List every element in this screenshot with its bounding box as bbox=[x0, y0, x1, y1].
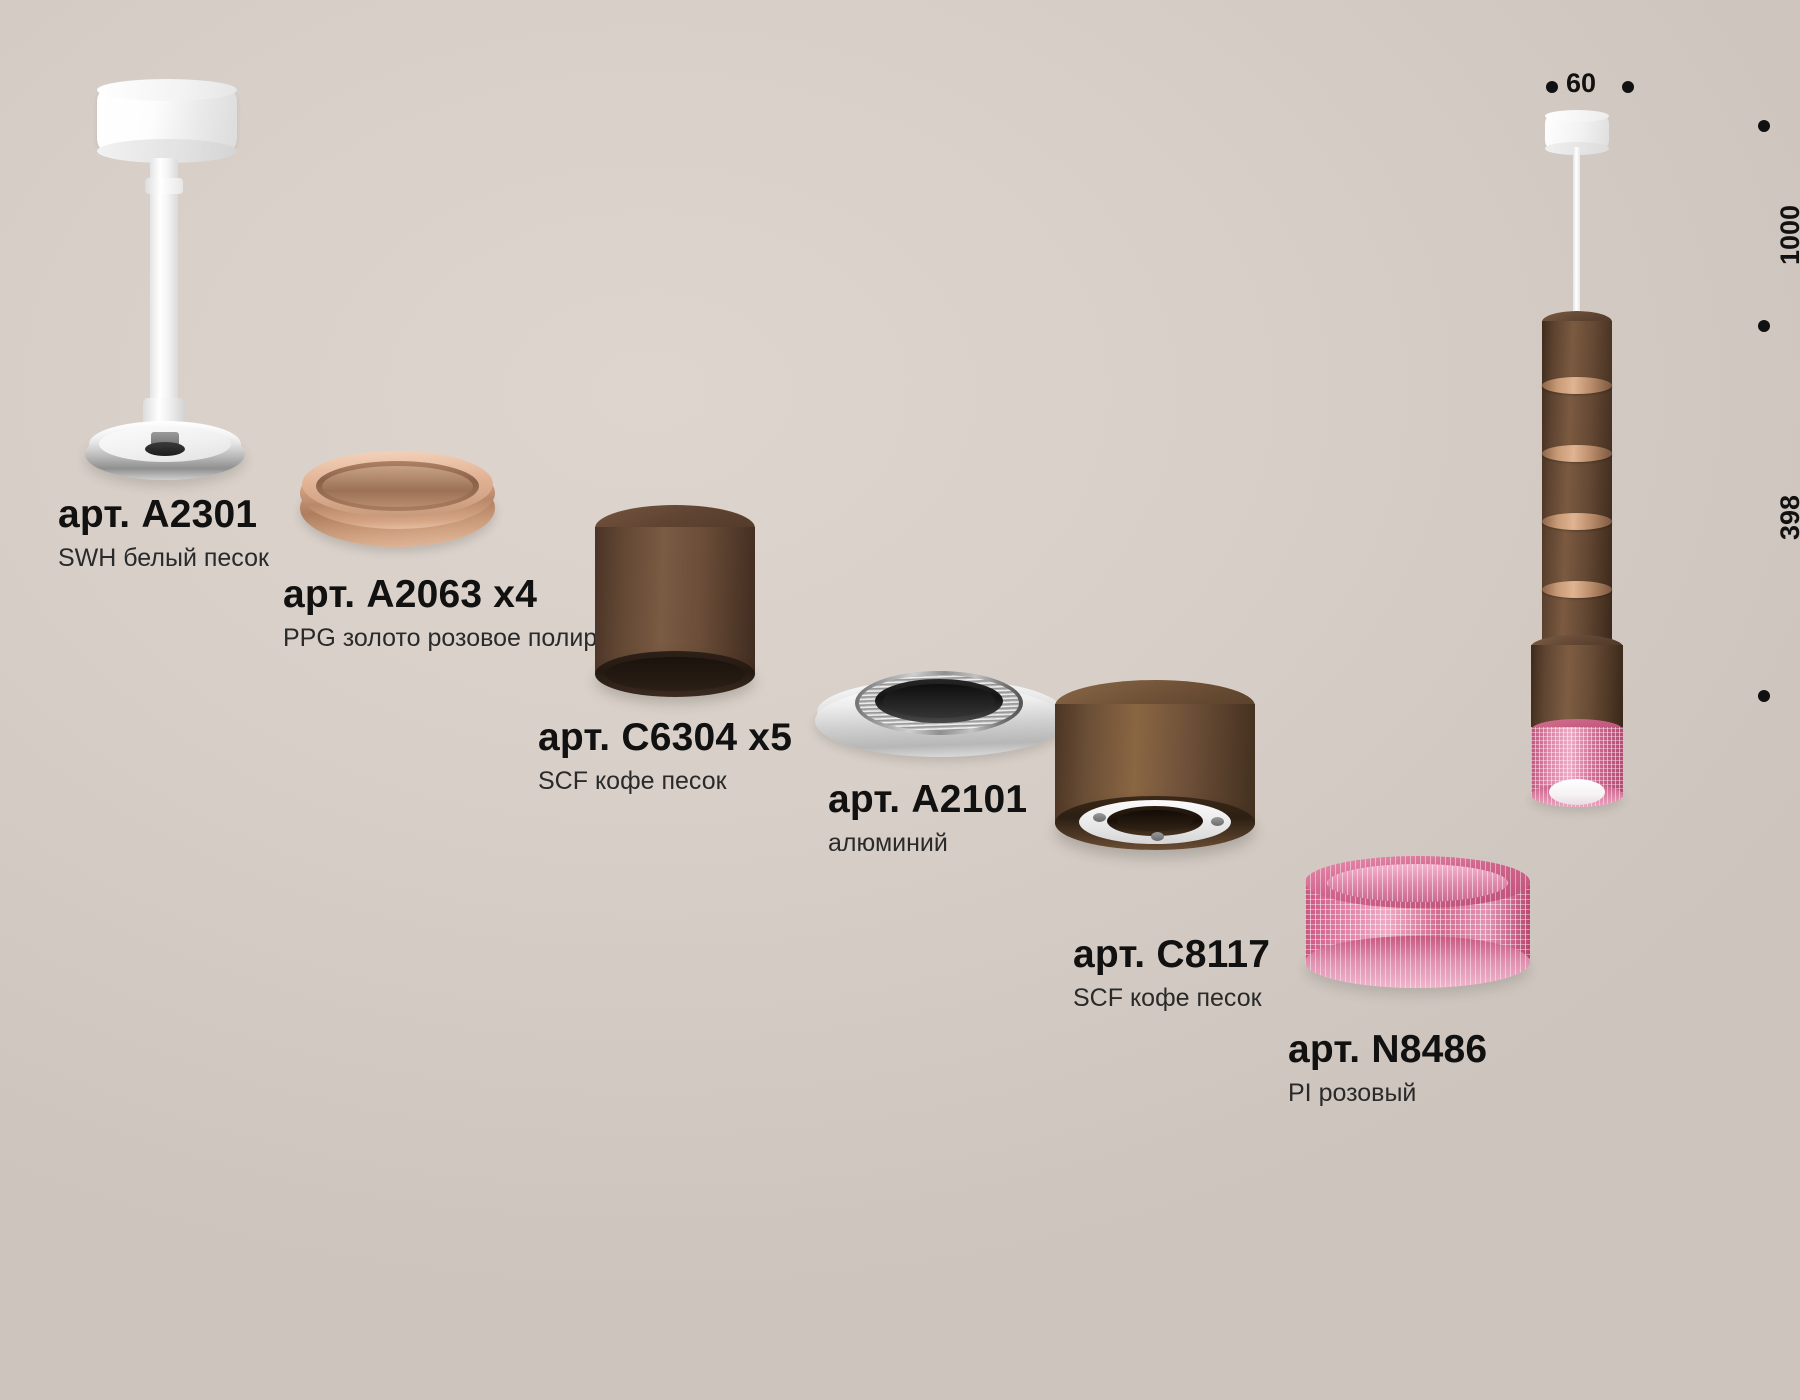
plate-screw bbox=[1093, 813, 1106, 822]
assembly-diffuser bbox=[1549, 779, 1605, 805]
assembly-joint-ring bbox=[1542, 513, 1612, 530]
dim-suspension-label: 1000 bbox=[1775, 205, 1800, 265]
article-code: арт. A2301 bbox=[58, 495, 269, 536]
label-c6304: арт. C6304 x5 SCF кофе песок bbox=[538, 718, 792, 797]
plate-screw bbox=[1151, 832, 1164, 841]
rod-joint bbox=[145, 178, 183, 194]
assembly-ceiling-cap bbox=[1545, 115, 1609, 149]
diagram-canvas: арт. A2301 SWH белый песок арт. A2063 x4… bbox=[0, 0, 1800, 1400]
part-c6304-cylinder-segment bbox=[595, 505, 770, 705]
dim-dot-mid bbox=[1758, 320, 1770, 332]
finish-name: SWH белый песок bbox=[58, 543, 269, 574]
mesh-ring-bore bbox=[1327, 864, 1508, 902]
article-code: арт. C6304 x5 bbox=[538, 718, 792, 759]
finish-name: SCF кофе песок bbox=[538, 766, 792, 797]
finish-name: SCF кофе песок bbox=[1073, 983, 1270, 1014]
flange-bore-inner bbox=[883, 684, 995, 718]
dim-dot-top bbox=[1758, 120, 1770, 132]
mount-rod bbox=[150, 158, 178, 408]
mesh-ring-bottom bbox=[1305, 936, 1530, 988]
dim-dot-bottom bbox=[1758, 690, 1770, 702]
finish-name: PI розовый bbox=[1288, 1078, 1487, 1109]
part-a2063-decorative-ring bbox=[300, 455, 510, 565]
label-a2101: арт. A2101 алюминий bbox=[828, 780, 1027, 859]
article-code: арт. C8117 bbox=[1073, 935, 1270, 976]
plate-screw bbox=[1211, 817, 1224, 826]
part-n8486-mesh-ring bbox=[1295, 860, 1545, 1010]
dim-dot-width-left bbox=[1546, 81, 1558, 93]
dim-fixture-label: 398 bbox=[1775, 495, 1800, 540]
assembled-pendant-luminaire bbox=[1515, 115, 1715, 815]
article-code: арт. N8486 bbox=[1288, 1030, 1487, 1071]
assembly-joint-ring bbox=[1542, 581, 1612, 598]
article-code: арт. A2101 bbox=[828, 780, 1027, 821]
ceiling-cap bbox=[97, 88, 237, 152]
label-a2301: арт. A2301 SWH белый песок bbox=[58, 495, 269, 574]
dim-dot-width-right bbox=[1622, 81, 1634, 93]
ring-bore-inner bbox=[322, 466, 473, 507]
assembly-joint-ring bbox=[1542, 377, 1612, 394]
dim-width-label: 60 bbox=[1566, 68, 1596, 99]
assembly-joint-ring bbox=[1542, 445, 1612, 462]
cylinder-bore bbox=[605, 657, 745, 691]
part-a2101-flange-ring bbox=[815, 665, 1075, 775]
assembly-tube bbox=[1542, 321, 1612, 671]
label-n8486: арт. N8486 PI розовый bbox=[1288, 1030, 1487, 1109]
label-c8117: арт. C8117 SCF кофе песок bbox=[1073, 935, 1270, 1014]
part-a2301-ceiling-mount bbox=[75, 80, 305, 500]
lamp-socket-inner bbox=[1117, 810, 1193, 831]
part-c8117-lamp-housing bbox=[1055, 680, 1270, 890]
mount-hub-socket bbox=[145, 442, 185, 456]
assembly-cord bbox=[1573, 147, 1580, 319]
finish-name: алюминий bbox=[828, 828, 1027, 859]
